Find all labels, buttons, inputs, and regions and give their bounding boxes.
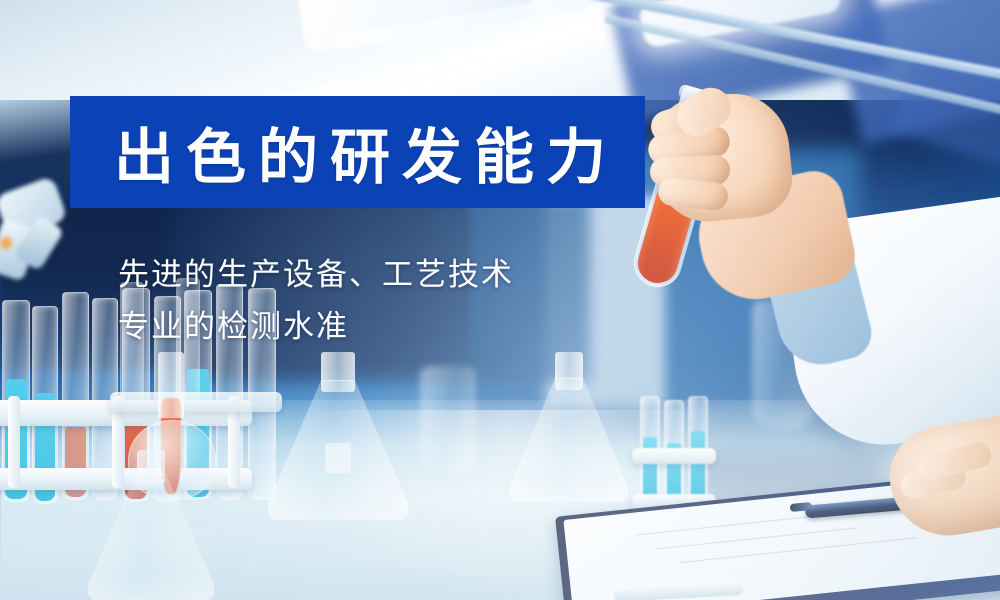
rack-crossbar [632,448,716,464]
tube-liquid-cyan [643,437,657,501]
hero-banner: 出色的研发能力 先进的生产设备、工艺技术 专业的检测水准 [0,0,1000,600]
background-flask [420,366,476,476]
paper-line [678,537,917,563]
flask-body [510,378,628,502]
erlenmeyer-flask-secondary [510,352,628,502]
flask-label [325,443,351,473]
subtitle-line-2: 专业的检测水准 [118,301,349,346]
subtitle-line-1: 先进的生产设备、工艺技术 [118,249,514,294]
microscope-lamp [0,237,12,249]
rack-post [8,396,20,488]
test-tube-rack-cyan [636,396,732,514]
headline-band: 出色的研发能力 [70,96,645,208]
flask-body [88,474,214,600]
tube-liquid-cyan [691,431,705,501]
erlenmeyer-flask-main [268,352,408,520]
flask-body [268,380,408,520]
page-title: 出色的研发能力 [70,96,645,208]
erlenmeyer-flask-foreground [88,450,214,600]
flask-neck [158,352,184,418]
